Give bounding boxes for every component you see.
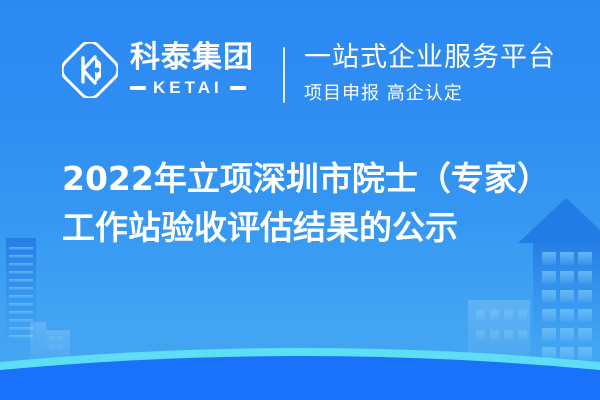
brand-wordmark: 科泰集团 KETAI [130,42,254,98]
tagline-sub: 项目申报 高企认定 [304,79,556,105]
tagline-block: 一站式企业服务平台 项目申报 高企认定 [304,42,556,105]
ground-arc [0,348,600,400]
left-tall-tower [6,238,36,363]
banner-header: 科泰集团 KETAI 一站式企业服务平台 项目申报 高企认定 [0,0,600,140]
ketai-diamond-monogram-logo-icon [62,42,118,98]
page-title: 2022年立项深圳市院士（专家）工作站验收评估结果的公示 [62,155,562,253]
left-small-building-b [46,330,70,364]
wordmark-dash-left [130,86,146,90]
header-divider [283,47,285,103]
brand-name-cn: 科泰集团 [130,42,254,74]
tagline-main: 一站式企业服务平台 [304,42,556,73]
wordmark-dash-right [230,86,246,90]
mid-right-building [468,300,530,362]
left-small-building-a [30,322,46,364]
brand-name-en: KETAI [153,78,223,98]
brand-logo[interactable]: 科泰集团 KETAI [62,42,254,98]
banner-image: 科泰集团 KETAI 一站式企业服务平台 项目申报 高企认定 2022年立项深圳… [0,0,600,400]
